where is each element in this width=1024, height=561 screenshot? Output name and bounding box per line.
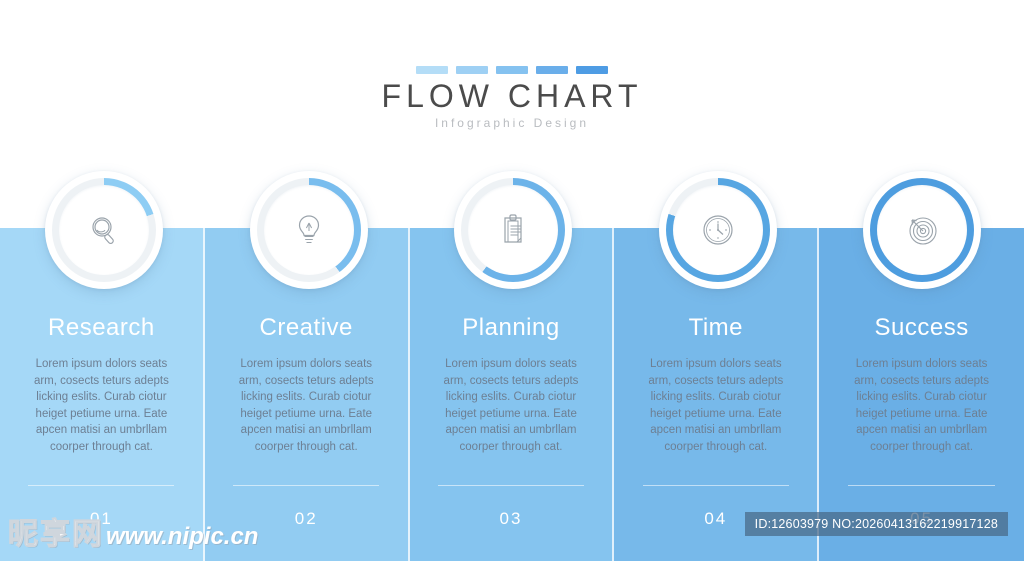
column-title: Success [819, 314, 1024, 342]
circle-inner-face [877, 185, 967, 275]
title-bar-1 [416, 66, 448, 74]
column-divider [438, 485, 584, 486]
circle-badge-research[interactable] [45, 171, 163, 289]
column-divider [643, 485, 789, 486]
circle-badge-planning[interactable] [454, 171, 572, 289]
column-body: Lorem ipsum dolors seats arm, cosects te… [410, 356, 613, 455]
column-divider [233, 485, 379, 486]
page-title: FLOW CHART [0, 78, 1024, 115]
column-body: Lorem ipsum dolors seats arm, cosects te… [0, 356, 203, 455]
column-title: Planning [410, 314, 613, 342]
clock-icon [698, 210, 738, 250]
column-number: 03 [410, 509, 613, 529]
column-body: Lorem ipsum dolors seats arm, cosects te… [819, 356, 1024, 455]
circle-inner-face [468, 185, 558, 275]
title-bar-2 [456, 66, 488, 74]
column-body: Lorem ipsum dolors seats arm, cosects te… [205, 356, 408, 455]
column-title: Time [614, 314, 817, 342]
watermark-url-text: www.nipic.cn [106, 523, 258, 551]
title-bar-5 [576, 66, 608, 74]
watermark-cjk-text: 昵享网 [8, 509, 104, 553]
column-divider [848, 485, 995, 486]
lightbulb-icon [289, 210, 329, 250]
watermark-id-badge: ID:12603979 NO:20260413162219917128 [745, 512, 1008, 536]
circle-inner-face [59, 185, 149, 275]
clipboard-icon [493, 210, 533, 250]
title-bar-group [416, 66, 608, 74]
column-divider [28, 485, 174, 486]
circle-badge-time[interactable] [659, 171, 777, 289]
circle-inner-face [264, 185, 354, 275]
column-title: Research [0, 314, 203, 342]
circle-badge-creative[interactable] [250, 171, 368, 289]
title-bar-4 [536, 66, 568, 74]
magnifier-icon [84, 210, 124, 250]
page-subtitle: Infographic Design [0, 116, 1024, 130]
circle-inner-face [673, 185, 763, 275]
nipic-watermark-logo: 昵享网 www.nipic.cn [8, 509, 258, 553]
target-icon [902, 210, 942, 250]
column-title: Creative [205, 314, 408, 342]
title-bar-3 [496, 66, 528, 74]
column-body: Lorem ipsum dolors seats arm, cosects te… [614, 356, 817, 455]
circle-badge-success[interactable] [863, 171, 981, 289]
